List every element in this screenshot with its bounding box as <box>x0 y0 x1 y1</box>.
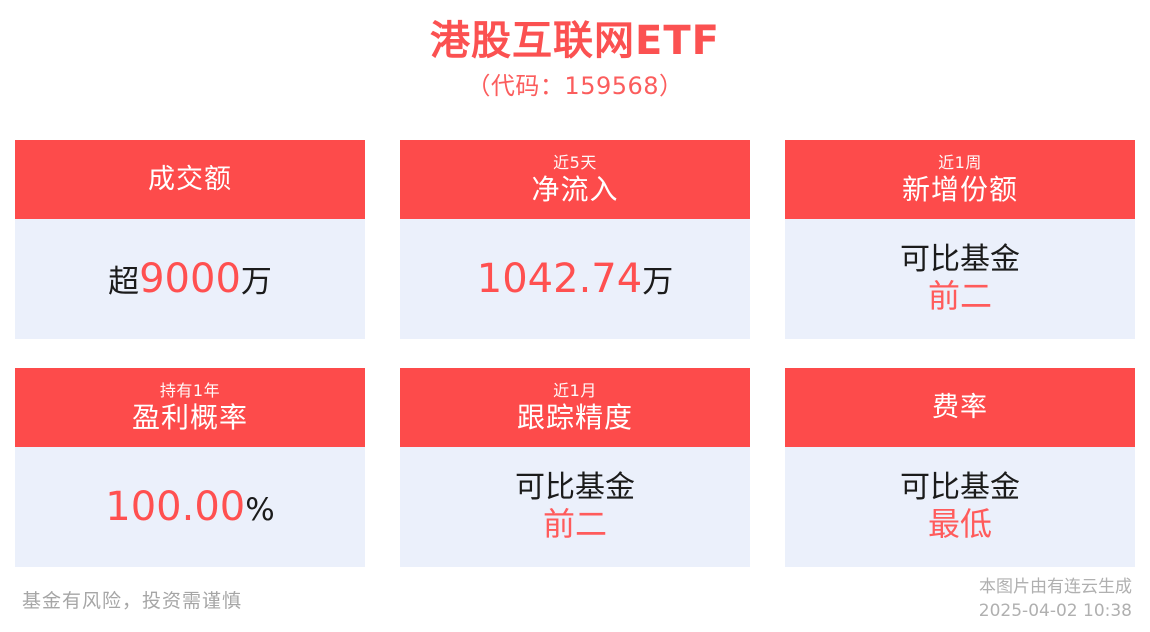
card-value: 1042.74 万 <box>477 257 673 302</box>
card-header: 成交额 <box>15 140 365 219</box>
value-number: 9000 <box>139 257 241 302</box>
card-value: 100.00 % <box>105 485 274 530</box>
fund-code: （代码：159568） <box>0 70 1150 102</box>
card-header: 近5天 净流入 <box>400 140 750 219</box>
value-line-rank: 前二 <box>543 507 607 543</box>
value-suffix: % <box>245 493 274 528</box>
metric-card-tracking-accuracy: 近1月 跟踪精度 可比基金 前二 <box>400 368 750 567</box>
value-prefix: 超 <box>108 265 139 300</box>
card-main-label: 跟踪精度 <box>517 404 633 432</box>
value-suffix: 万 <box>241 265 272 300</box>
card-sub-label: 近1周 <box>938 155 982 171</box>
card-header: 近1周 新增份额 <box>785 140 1135 219</box>
card-header: 费率 <box>785 368 1135 447</box>
value-line-primary: 可比基金 <box>900 471 1020 505</box>
page-title: 港股互联网ETF <box>0 18 1150 65</box>
card-body: 超 9000 万 <box>15 219 365 339</box>
risk-disclaimer: 基金有风险，投资需谨慎 <box>22 586 242 613</box>
generated-timestamp: 2025-04-02 10:38 <box>979 599 1132 624</box>
card-body: 可比基金 前二 <box>785 219 1135 339</box>
card-main-label: 净流入 <box>531 176 618 204</box>
card-main-label: 成交额 <box>148 166 232 193</box>
value-line-primary: 可比基金 <box>900 243 1020 277</box>
card-sub-label: 持有1年 <box>160 383 220 399</box>
card-header: 近1月 跟踪精度 <box>400 368 750 447</box>
value-line-rank: 前二 <box>928 279 992 315</box>
metric-card-profit-probability: 持有1年 盈利概率 100.00 % <box>15 368 365 567</box>
value-number: 1042.74 <box>477 257 642 302</box>
card-header: 持有1年 盈利概率 <box>15 368 365 447</box>
value-suffix: 万 <box>642 265 673 300</box>
metric-card-new-shares: 近1周 新增份额 可比基金 前二 <box>785 140 1135 339</box>
card-sub-label: 近1月 <box>553 383 597 399</box>
card-main-label: 费率 <box>932 394 988 421</box>
metric-card-net-inflow: 近5天 净流入 1042.74 万 <box>400 140 750 339</box>
value-line-rank: 最低 <box>928 507 992 543</box>
value-line-primary: 可比基金 <box>515 471 635 505</box>
metric-card-turnover: 成交额 超 9000 万 <box>15 140 365 339</box>
image-source: 本图片由有连云生成 <box>979 575 1132 600</box>
card-body: 可比基金 最低 <box>785 447 1135 567</box>
card-sub-label: 近5天 <box>553 155 597 171</box>
metric-card-grid: 成交额 超 9000 万 近5天 净流入 1042.74 万 近1周 新增份额 <box>15 140 1135 567</box>
card-main-label: 盈利概率 <box>132 404 248 432</box>
title-block: 港股互联网ETF （代码：159568） <box>0 0 1150 103</box>
metric-card-fee-rate: 费率 可比基金 最低 <box>785 368 1135 567</box>
card-body: 可比基金 前二 <box>400 447 750 567</box>
card-value: 超 9000 万 <box>108 257 272 302</box>
footer-source-block: 本图片由有连云生成 2025-04-02 10:38 <box>979 575 1132 624</box>
card-main-label: 新增份额 <box>902 176 1018 204</box>
footer: 基金有风险，投资需谨慎 本图片由有连云生成 2025-04-02 10:38 <box>0 566 1150 632</box>
card-body: 1042.74 万 <box>400 219 750 339</box>
value-number: 100.00 <box>105 485 245 530</box>
card-body: 100.00 % <box>15 447 365 567</box>
